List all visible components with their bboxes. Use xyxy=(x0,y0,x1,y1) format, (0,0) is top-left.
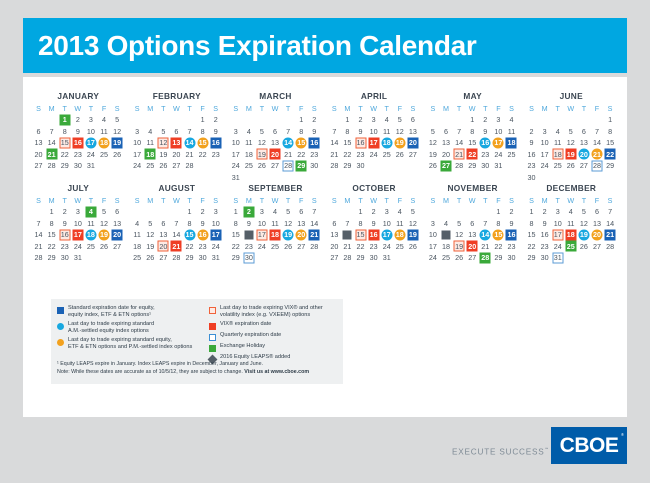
day-cell-vix-last-trade[interactable]: 15 xyxy=(58,137,71,149)
day-cell[interactable]: 22 xyxy=(196,149,209,161)
day-cell-am-settled[interactable]: 15 xyxy=(183,229,196,241)
day-cell[interactable]: 12 xyxy=(255,137,268,149)
day-cell[interactable]: 1 xyxy=(229,206,242,218)
day-cell[interactable]: 21 xyxy=(183,149,196,161)
day-cell[interactable]: 5 xyxy=(144,218,157,230)
day-cell[interactable]: 30 xyxy=(479,160,492,172)
day-cell-vix-last-trade[interactable]: 16 xyxy=(58,229,71,241)
day-cell[interactable]: 22 xyxy=(341,149,354,161)
day-cell[interactable]: 14 xyxy=(32,229,45,241)
day-cell[interactable]: 6 xyxy=(328,218,341,230)
day-cell[interactable]: 31 xyxy=(209,252,222,264)
day-cell[interactable]: 2 xyxy=(479,114,492,126)
day-cell[interactable]: 18 xyxy=(242,149,255,161)
day-cell[interactable]: 22 xyxy=(229,241,242,253)
day-cell[interactable]: 4 xyxy=(505,114,518,126)
day-cell[interactable]: 13 xyxy=(577,137,590,149)
day-cell[interactable]: 13 xyxy=(32,137,45,149)
day-cell-standard[interactable]: 19 xyxy=(406,229,419,241)
day-cell-vix-last-trade[interactable]: 16 xyxy=(354,137,367,149)
day-cell[interactable]: 25 xyxy=(439,252,452,264)
day-cell-holiday[interactable]: 4 xyxy=(84,206,97,218)
day-cell[interactable]: 24 xyxy=(551,241,564,253)
day-cell[interactable]: 21 xyxy=(282,149,295,161)
day-cell[interactable]: 27 xyxy=(406,149,419,161)
day-cell[interactable]: 12 xyxy=(144,229,157,241)
day-cell[interactable]: 9 xyxy=(58,218,71,230)
day-cell[interactable]: 27 xyxy=(32,160,45,172)
day-cell[interactable]: 16 xyxy=(538,229,551,241)
day-cell[interactable]: 19 xyxy=(426,149,439,161)
day-cell-quarterly[interactable]: 30 xyxy=(242,252,255,264)
day-cell[interactable]: 7 xyxy=(328,126,341,138)
day-cell-standard[interactable]: 21 xyxy=(308,229,321,241)
day-cell[interactable]: 11 xyxy=(84,218,97,230)
day-cell[interactable]: 21 xyxy=(341,241,354,253)
day-cell-vix-last-trade[interactable]: 21 xyxy=(453,149,466,161)
day-cell-pm-settled[interactable]: 17 xyxy=(492,137,505,149)
day-cell[interactable]: 24 xyxy=(492,149,505,161)
day-cell-quarterly[interactable]: 31 xyxy=(551,252,564,264)
day-cell[interactable]: 15 xyxy=(525,229,538,241)
day-cell[interactable]: 7 xyxy=(341,218,354,230)
day-cell[interactable]: 1 xyxy=(492,206,505,218)
day-cell[interactable]: 9 xyxy=(505,218,518,230)
day-cell[interactable]: 13 xyxy=(268,137,281,149)
day-cell[interactable]: 12 xyxy=(393,126,406,138)
day-cell[interactable]: 16 xyxy=(525,149,538,161)
day-cell[interactable]: 2 xyxy=(58,206,71,218)
day-cell[interactable]: 1 xyxy=(466,114,479,126)
day-cell[interactable]: 10 xyxy=(229,137,242,149)
day-cell[interactable]: 20 xyxy=(32,149,45,161)
day-cell[interactable]: 15 xyxy=(341,137,354,149)
day-cell[interactable]: 12 xyxy=(564,137,577,149)
day-cell[interactable]: 5 xyxy=(393,114,406,126)
day-cell-standard[interactable]: 16 xyxy=(209,137,222,149)
day-cell[interactable]: 28 xyxy=(32,252,45,264)
day-cell[interactable]: 6 xyxy=(157,218,170,230)
day-cell[interactable]: 5 xyxy=(426,126,439,138)
day-cell[interactable]: 15 xyxy=(229,229,242,241)
day-cell[interactable]: 12 xyxy=(282,218,295,230)
day-cell[interactable]: 28 xyxy=(308,241,321,253)
day-cell[interactable]: 25 xyxy=(131,252,144,264)
day-cell[interactable]: 3 xyxy=(492,114,505,126)
day-cell[interactable]: 28 xyxy=(453,160,466,172)
day-cell[interactable]: 13 xyxy=(328,229,341,241)
day-cell[interactable]: 11 xyxy=(268,218,281,230)
day-cell-standard[interactable]: 16 xyxy=(505,229,518,241)
day-cell[interactable]: 13 xyxy=(111,218,124,230)
day-cell[interactable]: 5 xyxy=(406,206,419,218)
day-cell[interactable]: 1 xyxy=(196,114,209,126)
day-cell[interactable]: 26 xyxy=(564,160,577,172)
day-cell-am-settled[interactable]: 17 xyxy=(380,229,393,241)
day-cell-vix-expiration[interactable]: 16 xyxy=(367,229,380,241)
day-cell[interactable]: 7 xyxy=(453,126,466,138)
day-cell[interactable]: 9 xyxy=(242,218,255,230)
day-cell[interactable]: 26 xyxy=(157,160,170,172)
day-cell[interactable]: 11 xyxy=(393,218,406,230)
day-cell[interactable]: 3 xyxy=(367,114,380,126)
day-cell[interactable]: 29 xyxy=(229,252,242,264)
day-cell[interactable]: 6 xyxy=(170,126,183,138)
day-cell[interactable]: 25 xyxy=(144,160,157,172)
day-cell[interactable]: 2 xyxy=(367,206,380,218)
day-cell-standard[interactable]: 19 xyxy=(111,137,124,149)
day-cell[interactable]: 2 xyxy=(354,114,367,126)
day-cell[interactable]: 4 xyxy=(242,126,255,138)
day-cell[interactable]: 26 xyxy=(453,252,466,264)
day-cell-am-settled[interactable]: 18 xyxy=(380,137,393,149)
day-cell[interactable]: 29 xyxy=(45,252,58,264)
day-cell[interactable]: 25 xyxy=(268,241,281,253)
day-cell[interactable]: 12 xyxy=(426,137,439,149)
day-cell-standard[interactable]: 16 xyxy=(308,137,321,149)
day-cell[interactable]: 24 xyxy=(229,160,242,172)
day-cell[interactable]: 1 xyxy=(45,206,58,218)
day-cell[interactable]: 26 xyxy=(97,241,110,253)
day-cell[interactable]: 23 xyxy=(354,149,367,161)
day-cell[interactable]: 18 xyxy=(439,241,452,253)
day-cell[interactable]: 3 xyxy=(84,114,97,126)
day-cell[interactable]: 10 xyxy=(255,218,268,230)
day-cell-am-settled[interactable]: 20 xyxy=(577,149,590,161)
day-cell[interactable]: 29 xyxy=(492,252,505,264)
day-cell[interactable]: 20 xyxy=(170,149,183,161)
day-cell[interactable]: 6 xyxy=(268,126,281,138)
day-cell[interactable]: 4 xyxy=(380,114,393,126)
day-cell-am-settled[interactable]: 14 xyxy=(479,229,492,241)
day-cell[interactable]: 1 xyxy=(525,206,538,218)
day-cell[interactable]: 10 xyxy=(538,137,551,149)
day-cell[interactable]: 29 xyxy=(341,160,354,172)
day-cell[interactable]: 8 xyxy=(354,218,367,230)
day-cell[interactable]: 24 xyxy=(84,149,97,161)
day-cell-pm-settled[interactable]: 20 xyxy=(295,229,308,241)
day-cell[interactable]: 10 xyxy=(209,218,222,230)
day-cell-holiday[interactable]: 18 xyxy=(144,149,157,161)
day-cell[interactable]: 4 xyxy=(144,126,157,138)
day-cell-holiday[interactable]: 21 xyxy=(45,149,58,161)
day-cell-standard[interactable]: 20 xyxy=(406,137,419,149)
day-cell[interactable]: 5 xyxy=(111,114,124,126)
day-cell[interactable]: 26 xyxy=(144,252,157,264)
day-cell-vix-last-trade[interactable]: 15 xyxy=(354,229,367,241)
day-cell[interactable]: 7 xyxy=(308,206,321,218)
day-cell[interactable]: 1 xyxy=(604,114,617,126)
day-cell-am-settled[interactable]: 14 xyxy=(183,137,196,149)
day-cell[interactable]: 28 xyxy=(341,252,354,264)
day-cell[interactable]: 24 xyxy=(367,149,380,161)
day-cell[interactable]: 10 xyxy=(367,126,380,138)
day-cell[interactable]: 9 xyxy=(71,126,84,138)
day-cell[interactable]: 8 xyxy=(604,126,617,138)
day-cell[interactable]: 14 xyxy=(453,137,466,149)
day-cell[interactable]: 29 xyxy=(466,160,479,172)
day-cell[interactable]: 1 xyxy=(183,206,196,218)
day-cell[interactable]: 27 xyxy=(577,160,590,172)
day-cell[interactable]: 25 xyxy=(380,149,393,161)
day-cell[interactable]: 3 xyxy=(131,126,144,138)
day-cell[interactable]: 6 xyxy=(32,126,45,138)
day-cell[interactable]: 31 xyxy=(84,160,97,172)
day-cell-quarterly[interactable]: 28 xyxy=(590,160,603,172)
day-cell[interactable]: 6 xyxy=(466,218,479,230)
day-cell[interactable]: 7 xyxy=(32,218,45,230)
day-cell-quarterly[interactable]: 28 xyxy=(282,160,295,172)
day-cell-vix-expiration[interactable]: 18 xyxy=(268,229,281,241)
day-cell[interactable]: 27 xyxy=(170,160,183,172)
day-cell[interactable]: 30 xyxy=(505,252,518,264)
day-cell[interactable]: 24 xyxy=(426,252,439,264)
day-cell[interactable]: 14 xyxy=(308,218,321,230)
day-cell-standard[interactable]: 17 xyxy=(209,229,222,241)
day-cell[interactable]: 28 xyxy=(328,160,341,172)
day-cell[interactable]: 3 xyxy=(380,206,393,218)
day-cell[interactable]: 28 xyxy=(604,241,617,253)
day-cell[interactable]: 23 xyxy=(308,149,321,161)
day-cell[interactable]: 10 xyxy=(131,137,144,149)
day-cell[interactable]: 19 xyxy=(157,149,170,161)
day-cell-holiday[interactable]: 2 xyxy=(242,206,255,218)
day-cell[interactable]: 24 xyxy=(71,241,84,253)
day-cell[interactable]: 7 xyxy=(604,206,617,218)
day-cell[interactable]: 2 xyxy=(538,206,551,218)
day-cell[interactable]: 10 xyxy=(380,218,393,230)
day-cell[interactable]: 3 xyxy=(71,206,84,218)
day-cell-holiday[interactable]: 29 xyxy=(295,160,308,172)
day-cell-am-settled[interactable]: 14 xyxy=(282,137,295,149)
day-cell[interactable]: 4 xyxy=(564,206,577,218)
day-cell-pm-settled[interactable]: 18 xyxy=(393,229,406,241)
day-cell[interactable]: 5 xyxy=(577,206,590,218)
day-cell-vix-last-trade[interactable]: 19 xyxy=(453,241,466,253)
day-cell[interactable]: 8 xyxy=(492,218,505,230)
day-cell[interactable]: 4 xyxy=(551,126,564,138)
day-cell[interactable]: 7 xyxy=(45,126,58,138)
day-cell[interactable]: 23 xyxy=(525,160,538,172)
day-cell[interactable]: 8 xyxy=(525,218,538,230)
day-cell[interactable]: 29 xyxy=(354,252,367,264)
day-cell[interactable]: 24 xyxy=(209,241,222,253)
day-cell[interactable]: 30 xyxy=(538,252,551,264)
day-cell-leaps[interactable]: 14 xyxy=(341,229,354,241)
day-cell[interactable]: 26 xyxy=(426,160,439,172)
day-cell[interactable]: 29 xyxy=(525,252,538,264)
day-cell[interactable]: 12 xyxy=(97,218,110,230)
day-cell-vix-expiration[interactable]: 20 xyxy=(268,149,281,161)
day-cell-holiday[interactable]: 25 xyxy=(564,241,577,253)
day-cell[interactable]: 13 xyxy=(406,126,419,138)
day-cell[interactable]: 26 xyxy=(255,160,268,172)
day-cell[interactable]: 13 xyxy=(466,229,479,241)
day-cell-vix-expiration[interactable]: 13 xyxy=(170,137,183,149)
day-cell[interactable]: 6 xyxy=(406,114,419,126)
day-cell[interactable]: 13 xyxy=(157,229,170,241)
day-cell[interactable]: 8 xyxy=(45,218,58,230)
day-cell-am-settled[interactable]: 17 xyxy=(84,137,97,149)
day-cell-vix-expiration[interactable]: 21 xyxy=(170,241,183,253)
day-cell[interactable]: 5 xyxy=(282,206,295,218)
day-cell[interactable]: 26 xyxy=(282,241,295,253)
day-cell[interactable]: 29 xyxy=(183,252,196,264)
day-cell[interactable]: 9 xyxy=(196,218,209,230)
day-cell[interactable]: 28 xyxy=(183,160,196,172)
day-cell[interactable]: 12 xyxy=(111,126,124,138)
day-cell-pm-settled[interactable]: 19 xyxy=(393,137,406,149)
day-cell[interactable]: 27 xyxy=(111,241,124,253)
day-cell[interactable]: 17 xyxy=(131,149,144,161)
day-cell[interactable]: 27 xyxy=(328,252,341,264)
day-cell[interactable]: 23 xyxy=(242,241,255,253)
day-cell[interactable]: 14 xyxy=(45,137,58,149)
day-cell[interactable]: 14 xyxy=(170,229,183,241)
day-cell[interactable]: 5 xyxy=(157,126,170,138)
day-cell[interactable]: 23 xyxy=(196,241,209,253)
day-cell[interactable]: 2 xyxy=(505,206,518,218)
day-cell[interactable]: 21 xyxy=(328,149,341,161)
day-cell[interactable]: 9 xyxy=(354,126,367,138)
day-cell-vix-expiration[interactable]: 18 xyxy=(564,229,577,241)
day-cell[interactable]: 26 xyxy=(406,241,419,253)
day-cell[interactable]: 30 xyxy=(367,252,380,264)
day-cell-pm-settled[interactable]: 19 xyxy=(97,229,110,241)
day-cell[interactable]: 28 xyxy=(170,252,183,264)
day-cell-pm-settled[interactable]: 16 xyxy=(196,229,209,241)
day-cell[interactable]: 11 xyxy=(505,126,518,138)
day-cell[interactable]: 3 xyxy=(209,206,222,218)
day-cell[interactable]: 5 xyxy=(255,126,268,138)
day-cell-pm-settled[interactable]: 20 xyxy=(590,229,603,241)
day-cell[interactable]: 14 xyxy=(328,137,341,149)
day-cell[interactable]: 5 xyxy=(564,126,577,138)
day-cell[interactable]: 11 xyxy=(242,137,255,149)
day-cell[interactable]: 22 xyxy=(45,241,58,253)
day-cell[interactable]: 4 xyxy=(97,114,110,126)
day-cell[interactable]: 25 xyxy=(97,149,110,161)
day-cell[interactable]: 15 xyxy=(466,137,479,149)
day-cell[interactable]: 19 xyxy=(144,241,157,253)
day-cell[interactable]: 22 xyxy=(354,241,367,253)
day-cell[interactable]: 2 xyxy=(209,114,222,126)
day-cell[interactable]: 2 xyxy=(308,114,321,126)
day-cell[interactable]: 21 xyxy=(479,241,492,253)
day-cell[interactable]: 6 xyxy=(577,126,590,138)
day-cell[interactable]: 6 xyxy=(295,206,308,218)
day-cell[interactable]: 23 xyxy=(367,241,380,253)
day-cell[interactable]: 8 xyxy=(196,126,209,138)
day-cell[interactable]: 14 xyxy=(590,137,603,149)
day-cell[interactable]: 17 xyxy=(538,149,551,161)
day-cell[interactable]: 15 xyxy=(45,229,58,241)
day-cell[interactable]: 18 xyxy=(131,241,144,253)
day-cell-vix-expiration[interactable]: 17 xyxy=(367,137,380,149)
day-cell[interactable]: 22 xyxy=(525,241,538,253)
day-cell-pm-settled[interactable]: 15 xyxy=(492,229,505,241)
day-cell[interactable]: 26 xyxy=(577,241,590,253)
day-cell[interactable]: 23 xyxy=(58,241,71,253)
day-cell[interactable]: 10 xyxy=(84,126,97,138)
day-cell[interactable]: 31 xyxy=(71,252,84,264)
day-cell-am-settled[interactable]: 18 xyxy=(84,229,97,241)
day-cell[interactable]: 27 xyxy=(295,241,308,253)
day-cell[interactable]: 12 xyxy=(577,218,590,230)
day-cell[interactable]: 23 xyxy=(538,241,551,253)
day-cell[interactable]: 13 xyxy=(439,137,452,149)
day-cell[interactable]: 24 xyxy=(131,160,144,172)
day-cell[interactable]: 8 xyxy=(229,218,242,230)
day-cell[interactable]: 7 xyxy=(282,126,295,138)
day-cell-vix-expiration[interactable]: 20 xyxy=(466,241,479,253)
day-cell[interactable]: 30 xyxy=(196,252,209,264)
day-cell[interactable]: 31 xyxy=(492,160,505,172)
day-cell[interactable]: 25 xyxy=(84,241,97,253)
day-cell-pm-settled[interactable]: 15 xyxy=(196,137,209,149)
day-cell[interactable]: 21 xyxy=(32,241,45,253)
day-cell[interactable]: 24 xyxy=(380,241,393,253)
day-cell[interactable]: 31 xyxy=(229,172,242,184)
day-cell[interactable]: 24 xyxy=(255,241,268,253)
day-cell-standard[interactable]: 21 xyxy=(604,229,617,241)
day-cell[interactable]: 25 xyxy=(551,160,564,172)
day-cell[interactable]: 3 xyxy=(538,126,551,138)
day-cell[interactable]: 13 xyxy=(590,218,603,230)
day-cell[interactable]: 9 xyxy=(525,137,538,149)
day-cell[interactable]: 23 xyxy=(71,149,84,161)
day-cell[interactable]: 28 xyxy=(45,160,58,172)
day-cell-vix-expiration[interactable]: 19 xyxy=(564,149,577,161)
day-cell[interactable]: 30 xyxy=(354,160,367,172)
day-cell[interactable]: 23 xyxy=(505,241,518,253)
day-cell[interactable]: 23 xyxy=(209,149,222,161)
day-cell[interactable]: 13 xyxy=(295,218,308,230)
day-cell[interactable]: 17 xyxy=(229,149,242,161)
day-cell[interactable]: 27 xyxy=(268,160,281,172)
day-cell-vix-expiration[interactable]: 22 xyxy=(466,149,479,161)
day-cell-holiday[interactable]: 28 xyxy=(479,252,492,264)
day-cell[interactable]: 11 xyxy=(144,137,157,149)
day-cell-standard[interactable]: 18 xyxy=(505,137,518,149)
day-cell[interactable]: 6 xyxy=(111,206,124,218)
day-cell-vix-expiration[interactable]: 16 xyxy=(71,137,84,149)
day-cell-vix-last-trade[interactable]: 19 xyxy=(255,149,268,161)
day-cell[interactable]: 20 xyxy=(328,241,341,253)
day-cell[interactable]: 30 xyxy=(71,160,84,172)
day-cell[interactable]: 24 xyxy=(538,160,551,172)
day-cell[interactable]: 20 xyxy=(439,149,452,161)
day-cell-leaps[interactable]: 11 xyxy=(439,229,452,241)
day-cell[interactable]: 3 xyxy=(426,218,439,230)
day-cell[interactable]: 22 xyxy=(492,241,505,253)
day-cell-vix-last-trade[interactable]: 20 xyxy=(157,241,170,253)
day-cell[interactable]: 3 xyxy=(551,206,564,218)
day-cell[interactable]: 2 xyxy=(71,114,84,126)
day-cell-am-settled[interactable]: 19 xyxy=(282,229,295,241)
day-cell[interactable]: 25 xyxy=(242,160,255,172)
day-cell[interactable]: 5 xyxy=(453,218,466,230)
day-cell[interactable]: 9 xyxy=(308,126,321,138)
day-cell[interactable]: 23 xyxy=(479,149,492,161)
day-cell[interactable]: 1 xyxy=(295,114,308,126)
day-cell[interactable]: 26 xyxy=(111,149,124,161)
day-cell[interactable]: 12 xyxy=(406,218,419,230)
day-cell[interactable]: 6 xyxy=(590,206,603,218)
day-cell[interactable]: 22 xyxy=(295,149,308,161)
day-cell[interactable]: 29 xyxy=(604,160,617,172)
cboe-website-link[interactable]: Visit us at www.cboe.com xyxy=(244,369,309,375)
